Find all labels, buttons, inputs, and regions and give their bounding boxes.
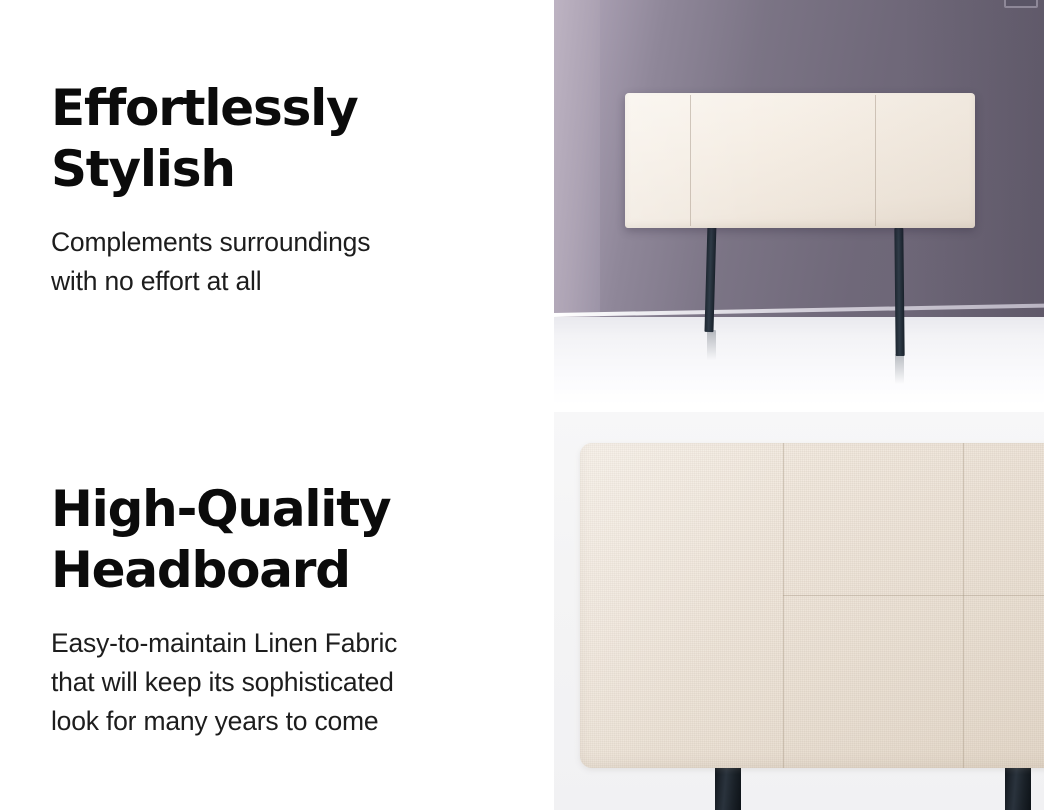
- closeup-leg-right: [1005, 764, 1031, 810]
- closeup-seam-vertical-right: [963, 443, 964, 768]
- headboard-closeup-panel: [580, 443, 1044, 768]
- wall-corner-highlight: [554, 0, 600, 336]
- headboard-seam-left: [690, 95, 691, 226]
- photo-headboard-closeup: [554, 412, 1044, 810]
- feature-headline-headboard: High-Quality Headboard: [51, 479, 521, 601]
- feature-body-headboard: Easy-to-maintain Linen Fabric that will …: [51, 624, 521, 741]
- closeup-seam-horizontal: [783, 595, 1044, 596]
- wall-fixture-icon: [1004, 0, 1038, 8]
- headboard-closeup-sheen: [580, 443, 1044, 768]
- photo-bedroom-scene: [554, 0, 1044, 405]
- text-column: Effortlessly Stylish Complements surroun…: [0, 0, 554, 810]
- closeup-seam-vertical-left: [783, 443, 784, 768]
- headboard-panel: [625, 93, 975, 228]
- headboard-leg-left-reflection: [707, 330, 716, 360]
- feature-page: Effortlessly Stylish Complements surroun…: [0, 0, 1044, 810]
- feature-block-headboard: High-Quality Headboard Easy-to-maintain …: [51, 479, 521, 741]
- photo-column: [554, 0, 1044, 810]
- headboard-leg-right: [894, 228, 904, 356]
- feature-headline-stylish: Effortlessly Stylish: [51, 78, 521, 200]
- headboard-seam-right: [875, 95, 876, 226]
- feature-body-stylish: Complements surroundings with no effort …: [51, 223, 521, 301]
- closeup-leg-left: [715, 764, 741, 810]
- headboard-leg-right-reflection: [895, 354, 904, 384]
- feature-block-stylish: Effortlessly Stylish Complements surroun…: [51, 78, 521, 301]
- glossy-floor: [554, 317, 1044, 405]
- panel-divider: [554, 405, 1044, 412]
- headboard-sheen: [625, 93, 975, 228]
